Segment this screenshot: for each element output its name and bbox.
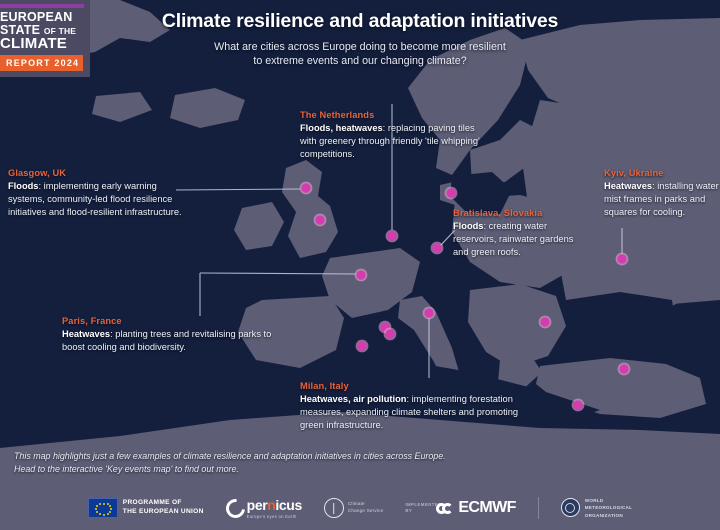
annotation-text: Floods, heatwaves: replacing paving tile… — [300, 122, 480, 162]
page-subtitle: What are cities across Europe doing to b… — [140, 40, 580, 69]
cop-word-a: per — [247, 497, 268, 513]
report-year-badge: REPORT 2024 — [0, 55, 83, 71]
subtitle-line-1: What are cities across Europe doing to b… — [140, 40, 580, 54]
eu-logo: PROGRAMME OF THE EUROPEAN UNION — [88, 498, 204, 518]
map-marker-milan[interactable] — [424, 308, 433, 317]
wmo-logo: WORLD METEOROLOGICAL ORGANIZATION — [561, 497, 632, 518]
annotation-milan: Milan, Italy Heatwaves, air pollution: i… — [300, 381, 538, 433]
eu-star-icon — [109, 505, 111, 507]
implemented-by-label: IMPLEMENTED BY — [405, 502, 431, 513]
map-marker-balkans[interactable] — [540, 317, 549, 326]
map-marker-bratislava[interactable] — [432, 243, 441, 252]
annotation-topic: Floods — [8, 181, 38, 191]
annotation-text: Heatwaves: installing water mist frames … — [604, 180, 720, 220]
eu-star-icon — [96, 511, 98, 513]
annotation-topic: Floods — [453, 221, 483, 231]
annotation-location: Kyiv, Ukraine — [604, 168, 720, 178]
subtitle-line-2: to extreme events and our changing clima… — [140, 54, 580, 68]
annotation-location: Glasgow, UK — [8, 168, 186, 178]
annotation-kyiv: Kyiv, Ukraine Heatwaves: installing wate… — [604, 168, 720, 220]
annotation-bratislava: Bratislava, Slovakia Floods: creating wa… — [453, 208, 583, 260]
annotation-topic: Heatwaves — [62, 329, 110, 339]
map-marker-northern-uk[interactable] — [315, 215, 324, 224]
annotation-topic: Heatwaves, air pollution — [300, 394, 406, 404]
map-marker-italy-south[interactable] — [357, 341, 366, 350]
ecmwf-logo: IMPLEMENTED BY ECMWF — [405, 499, 515, 517]
wmo-line-1: WORLD — [585, 497, 632, 504]
wmo-line-3: ORGANIZATION — [585, 512, 632, 519]
copernicus-wordmark: pernicus Europe's eyes on Earth — [247, 497, 302, 519]
eu-star-icon — [99, 513, 101, 515]
eu-star-icon — [107, 513, 109, 515]
annotation-glasgow: Glasgow, UK Floods: implementing early w… — [8, 168, 186, 220]
climate-change-service-logo: Climate Change Service — [324, 498, 384, 518]
annotation-location: Paris, France — [62, 316, 294, 326]
c3s-circle-icon — [324, 498, 344, 518]
footnote-line-2: Head to the interactive 'Key events map'… — [14, 463, 574, 476]
ecmwf-mark-icon — [436, 503, 453, 514]
annotation-text: Heatwaves: planting trees and revitalisi… — [62, 328, 294, 354]
annotation-topic: Heatwaves — [604, 181, 652, 191]
map-marker-paris[interactable] — [356, 270, 365, 279]
annotation-location: Bratislava, Slovakia — [453, 208, 583, 218]
eu-logo-text: PROGRAMME OF THE EUROPEAN UNION — [123, 499, 204, 517]
annotation-text: Floods: implementing early warning syste… — [8, 180, 186, 220]
annotation-location: The Netherlands — [300, 110, 480, 120]
annotation-netherlands: The Netherlands Floods, heatwaves: repla… — [300, 110, 480, 162]
ecmwf-wordmark: ECMWF — [458, 499, 515, 517]
c3s-text: Climate Change Service — [348, 501, 384, 515]
report-logo: EUROPEAN STATE OF THE CLIMATE REPORT 202… — [0, 0, 90, 77]
page-title: Climate resilience and adaptation initia… — [140, 10, 580, 33]
wmo-emblem-icon — [561, 498, 580, 517]
c3s-line-1: Climate — [348, 501, 384, 508]
wmo-line-2: METEOROLOGICAL — [585, 504, 632, 511]
map-marker-denmark[interactable] — [446, 188, 455, 197]
annotation-location: Milan, Italy — [300, 381, 538, 391]
map-marker-glasgow[interactable] — [301, 183, 310, 192]
footer-divider — [538, 497, 539, 519]
partner-logo-bar: PROGRAMME OF THE EUROPEAN UNION pernicus… — [0, 486, 720, 530]
eu-star-icon — [107, 503, 109, 505]
eu-text-line-1: PROGRAMME OF — [123, 499, 204, 508]
logo-line-climate: CLIMATE — [0, 36, 84, 51]
header-block: Climate resilience and adaptation initia… — [140, 10, 580, 69]
map-marker-turkey[interactable] — [573, 400, 582, 409]
map-marker-netherlands[interactable] — [387, 231, 396, 240]
eu-star-icon — [110, 508, 112, 510]
c3s-line-2: Change Service — [348, 508, 384, 515]
wmo-text: WORLD METEOROLOGICAL ORGANIZATION — [585, 497, 632, 518]
logo-ofthe-word: OF THE — [44, 26, 76, 36]
cop-word-b: icus — [275, 497, 301, 513]
map-marker-kyiv[interactable] — [617, 254, 626, 263]
annotation-topic: Floods, heatwaves — [300, 123, 383, 133]
copernicus-tagline: Europe's eyes on Earth — [247, 514, 302, 519]
eu-star-icon — [95, 508, 97, 510]
annotation-paris: Paris, France Heatwaves: planting trees … — [62, 316, 294, 354]
infographic-canvas: EUROPEAN STATE OF THE CLIMATE REPORT 202… — [0, 0, 720, 530]
footnote-line-1: This map highlights just a few examples … — [14, 450, 574, 463]
eu-star-icon — [99, 503, 101, 505]
eu-star-icon — [103, 503, 105, 505]
annotation-text: Heatwaves, air pollution: implementing f… — [300, 393, 538, 433]
eu-star-icon — [109, 511, 111, 513]
copernicus-logo: pernicus Europe's eyes on Earth — [226, 497, 302, 519]
annotation-text: Floods: creating water reservoirs, rainw… — [453, 220, 583, 260]
eu-text-line-2: THE EUROPEAN UNION — [123, 508, 204, 517]
logo-accent-bar — [0, 4, 84, 8]
eu-star-icon — [103, 514, 105, 516]
eu-star-icon — [96, 505, 98, 507]
map-marker-black-sea[interactable] — [619, 364, 628, 373]
copernicus-word: pernicus — [247, 497, 302, 513]
map-marker-alps[interactable] — [385, 329, 394, 338]
copernicus-ring-icon — [222, 495, 249, 522]
eu-flag-icon — [88, 498, 118, 518]
map-footnote: This map highlights just a few examples … — [14, 450, 574, 477]
ecmwf-arc-2 — [442, 503, 453, 514]
